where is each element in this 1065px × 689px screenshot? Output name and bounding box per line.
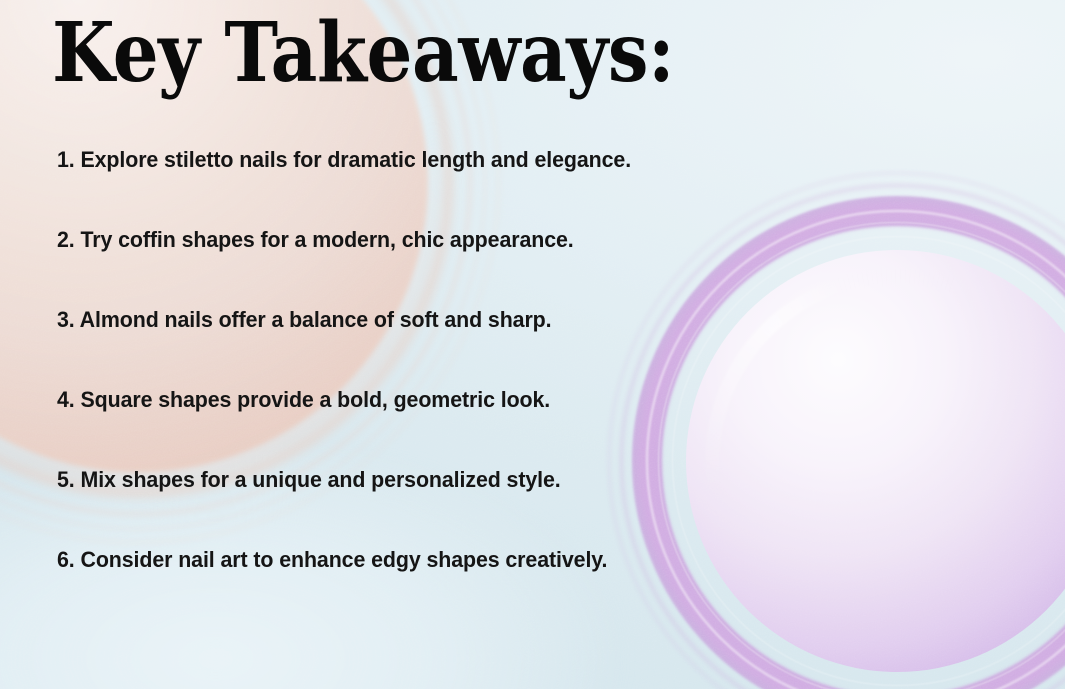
list-item: 4. Square shapes provide a bold, geometr… bbox=[57, 387, 722, 467]
takeaways-list: 1. Explore stiletto nails for dramatic l… bbox=[57, 147, 757, 627]
list-item: 6. Consider nail art to enhance edgy sha… bbox=[57, 547, 722, 627]
page-title: Key Takeaways: bbox=[52, 12, 674, 94]
list-item: 2. Try coffin shapes for a modern, chic … bbox=[57, 227, 722, 307]
list-item: 5. Mix shapes for a unique and personali… bbox=[57, 467, 722, 547]
takeaways-card: Key Takeaways: 1. Explore stiletto nails… bbox=[0, 0, 1065, 689]
list-item: 1. Explore stiletto nails for dramatic l… bbox=[57, 147, 722, 227]
card-content: Key Takeaways: 1. Explore stiletto nails… bbox=[0, 0, 1065, 689]
list-item: 3. Almond nails offer a balance of soft … bbox=[57, 307, 722, 387]
